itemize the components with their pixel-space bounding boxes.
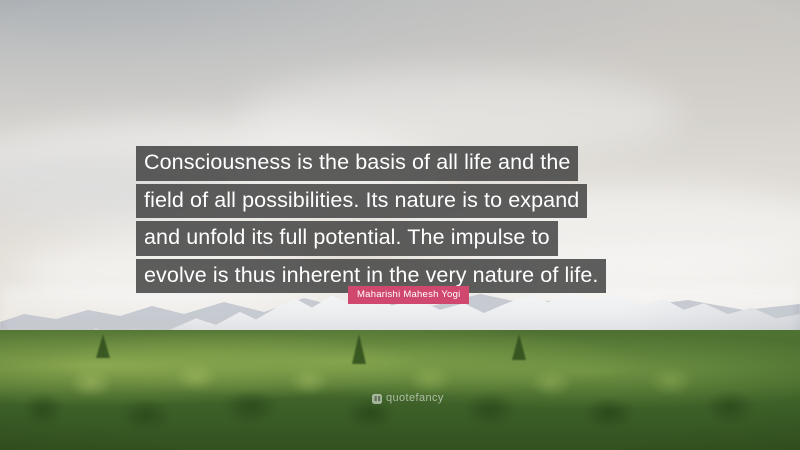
quote-line: and unfold its full potential. The impul… (136, 221, 558, 256)
watermark: quotefancy (372, 393, 444, 404)
author-badge: Maharishi Mahesh Yogi (348, 286, 469, 304)
quote-line: Consciousness is the basis of all life a… (136, 146, 578, 181)
watermark-label: quotefancy (386, 393, 444, 404)
quote-poster: Consciousness is the basis of all life a… (0, 0, 800, 450)
quotefancy-logo-icon (372, 394, 382, 404)
quote-text-block: Consciousness is the basis of all life a… (136, 146, 606, 293)
quote-line: field of all possibilities. Its nature i… (136, 184, 587, 219)
